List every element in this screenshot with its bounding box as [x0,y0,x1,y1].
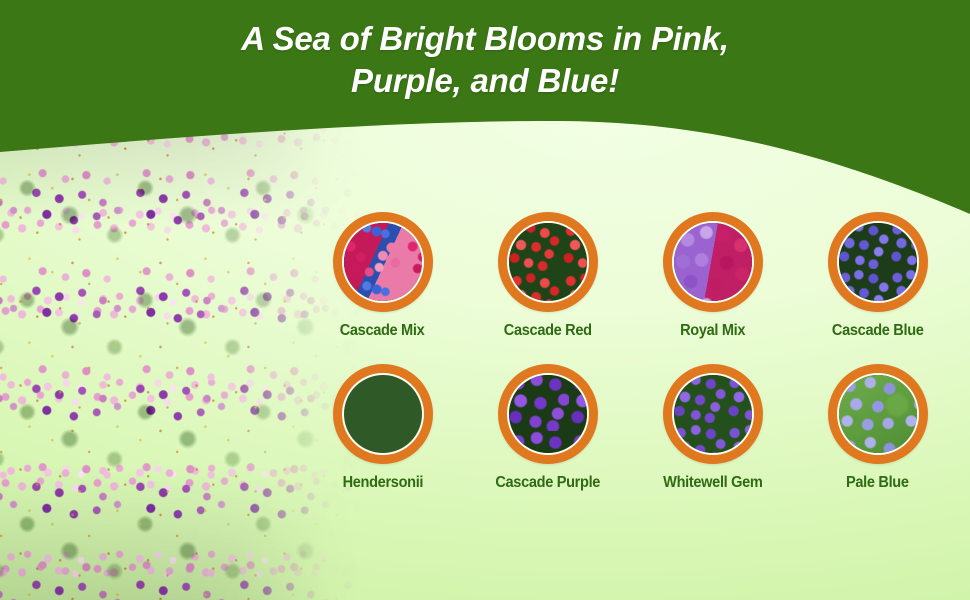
variety-item-royal-mix[interactable]: Royal Mix [630,212,795,340]
variety-label: Pale Blue [846,474,909,492]
flower-swatch-cascade-blue [837,221,919,303]
flower-swatch-hendersonii [342,373,424,455]
flower-swatch-cascade-red [507,221,589,303]
swatch-texture [837,373,919,455]
variety-label: Cascade Mix [340,322,425,340]
swatch-texture [342,221,424,303]
flower-swatch-cascade-purple [507,373,589,455]
variety-label: Whitewell Gem [663,474,762,492]
swatch-texture [837,221,919,303]
swatch-ring [333,364,433,464]
headline-line-1: A Sea of Bright Blooms in Pink, [60,18,910,60]
swatch-texture [507,373,589,455]
flower-swatch-cascade-mix [342,221,424,303]
headline-line-2: Purple, and Blue! [60,60,910,102]
flower-swatch-whitewell-gem [672,373,754,455]
variety-item-cascade-mix[interactable]: Cascade Mix [300,212,465,340]
variety-item-hendersonii[interactable]: Hendersonii [300,364,465,492]
variety-label: Royal Mix [680,322,745,340]
variety-label: Cascade Red [504,322,592,340]
promo-banner: A Sea of Bright Blooms in Pink, Purple, … [0,0,970,600]
swatch-texture [672,221,754,303]
swatch-texture [342,373,424,455]
swatch-ring [663,364,763,464]
variety-item-whitewell-gem[interactable]: Whitewell Gem [630,364,795,492]
flower-swatch-pale-blue [837,373,919,455]
variety-item-pale-blue[interactable]: Pale Blue [795,364,960,492]
flower-swatch-royal-mix [672,221,754,303]
variety-item-cascade-red[interactable]: Cascade Red [465,212,630,340]
swatch-texture [672,373,754,455]
variety-label: Cascade Blue [832,322,924,340]
variety-grid: Cascade Mix Cascade Red Royal Mix [300,212,960,492]
variety-item-cascade-blue[interactable]: Cascade Blue [795,212,960,340]
headline: A Sea of Bright Blooms in Pink, Purple, … [0,18,970,102]
swatch-texture [507,221,589,303]
swatch-ring [828,364,928,464]
swatch-ring [498,364,598,464]
variety-label: Cascade Purple [495,474,600,492]
variety-label: Hendersonii [342,474,423,492]
variety-item-cascade-purple[interactable]: Cascade Purple [465,364,630,492]
